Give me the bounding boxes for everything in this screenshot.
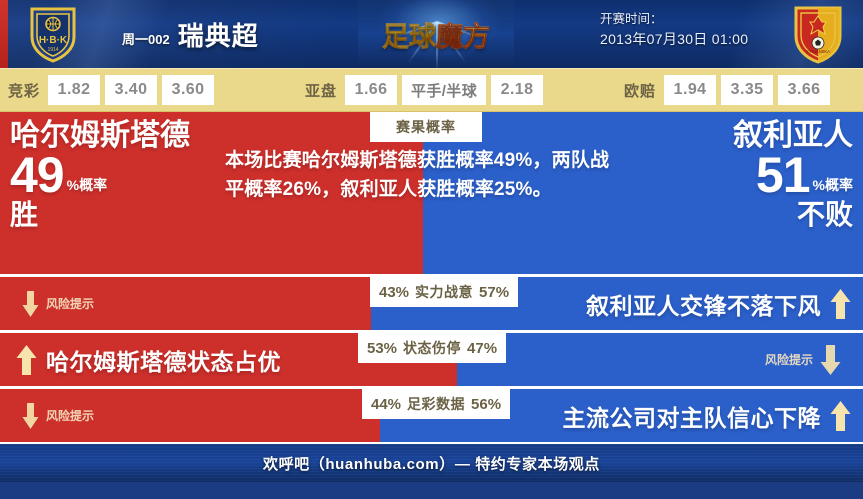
footer-text: 欢呼吧（huanhuba.com）— 特约专家本场观点 <box>263 453 600 474</box>
match-code: 周一002 <box>122 29 170 48</box>
odds-group-oupei: 欧赔 1.94 3.35 3.66 <box>616 68 835 112</box>
away-team-crest-icon: SYRIANSKA <box>787 3 849 65</box>
comparison-message: 哈尔姆斯塔德状态占优 <box>16 333 281 386</box>
brand-logo: 足球魔方 <box>358 0 514 68</box>
brand-text-part2: 魔方 <box>436 22 490 52</box>
odds-cell[interactable]: 3.60 <box>162 75 214 105</box>
odds-cell[interactable]: 3.66 <box>778 75 830 105</box>
risk-indicator: 风险提示 <box>22 277 94 330</box>
brand-text-part1: 足球 <box>382 22 436 52</box>
comparison-message: 叙利亚人交锋不落下风 <box>586 277 851 330</box>
away-probability-line: 51 %概率 <box>618 152 853 200</box>
away-team-name: 叙利亚人 <box>618 120 853 152</box>
comparison-message-text: 哈尔姆斯塔德状态占优 <box>46 343 281 377</box>
odds-cell[interactable]: 1.94 <box>664 75 716 105</box>
arrow-up-icon <box>830 399 851 433</box>
comparison-title: 状态伤停 <box>403 338 461 358</box>
svg-text:1914: 1914 <box>47 47 58 53</box>
league-info: 周一002 瑞典超 <box>122 0 259 68</box>
odds-group-label: 亚盘 <box>297 80 345 101</box>
comparison-tab: 44% 足彩数据 56% <box>362 389 510 419</box>
comparison-title: 实力战意 <box>415 282 473 302</box>
odds-bar: 竞彩 1.82 3.40 3.60 亚盘 1.66 平手/半球 2.18 欧赔 … <box>0 68 863 112</box>
result-probability-section: 赛果概率 哈尔姆斯塔德 49 %概率 胜 叙利亚人 51 %概率 不败 本场比赛… <box>0 112 863 274</box>
comparison-row: 53% 状态伤停 47% 哈尔姆斯塔德状态占优 风险提示 <box>0 330 863 386</box>
comparison-right-pct: 47% <box>467 340 497 357</box>
comparison-row: 44% 足彩数据 56% 风险提示 主流公司对主队信心下降 <box>0 386 863 442</box>
home-probability-suffix: %概率 <box>67 179 107 192</box>
comparison-right-pct: 57% <box>479 284 509 301</box>
odds-cell-handicap[interactable]: 平手/半球 <box>402 75 486 105</box>
odds-cell[interactable]: 1.66 <box>345 75 397 105</box>
home-team-crest-icon: H·B·K 1914 <box>22 3 84 65</box>
brand-wordmark: 足球魔方 <box>382 15 490 54</box>
odds-cell[interactable]: 3.35 <box>721 75 773 105</box>
arrow-down-icon <box>820 343 841 377</box>
comparison-message-text: 叙利亚人交锋不落下风 <box>586 287 821 321</box>
comparison-tab: 53% 状态伤停 47% <box>358 333 506 363</box>
risk-label: 风险提示 <box>765 351 813 368</box>
match-preview-graphic: H·B·K 1914 SYRIANSKA 周一002 瑞典超 足球魔方 开赛时间… <box>0 0 863 499</box>
risk-indicator: 风险提示 <box>22 389 94 442</box>
probability-description: 本场比赛哈尔姆斯塔德获胜概率49%，两队战平概率26%，叙利亚人获胜概率25%。 <box>225 146 625 205</box>
home-outcome-label: 胜 <box>10 200 225 229</box>
comparison-left-pct: 53% <box>367 340 397 357</box>
odds-group-jingcai: 竞彩 1.82 3.40 3.60 <box>0 68 219 112</box>
comparison-row: 43% 实力战意 57% 风险提示 叙利亚人交锋不落下风 <box>0 274 863 330</box>
footer-bar: 欢呼吧（huanhuba.com）— 特约专家本场观点 <box>0 442 863 482</box>
header-bar: H·B·K 1914 SYRIANSKA 周一002 瑞典超 足球魔方 开赛时间… <box>0 0 863 68</box>
comparison-right-pct: 56% <box>471 396 501 413</box>
odds-group-label: 欧赔 <box>616 80 664 101</box>
away-probability-suffix: %概率 <box>813 179 853 192</box>
arrow-up-icon <box>16 343 37 377</box>
kickoff-value: 2013年07月30日 01:00 <box>600 29 748 51</box>
probability-tab-label: 赛果概率 <box>370 112 482 142</box>
odds-group-yapan: 亚盘 1.66 平手/半球 2.18 <box>297 68 548 112</box>
arrow-up-icon <box>830 287 851 321</box>
home-team-block: 哈尔姆斯塔德 49 %概率 胜 <box>10 120 225 229</box>
arrow-down-icon <box>22 289 39 319</box>
away-probability-value: 51 <box>756 152 810 200</box>
odds-cell[interactable]: 3.40 <box>105 75 157 105</box>
kickoff-label: 开赛时间： <box>600 10 748 29</box>
kickoff-time-block: 开赛时间： 2013年07月30日 01:00 <box>600 10 748 51</box>
risk-indicator: 风险提示 <box>765 333 841 386</box>
odds-cell[interactable]: 2.18 <box>491 75 543 105</box>
home-probability-line: 49 %概率 <box>10 152 225 200</box>
comparison-left-pct: 44% <box>371 396 401 413</box>
away-outcome-label: 不败 <box>618 200 853 229</box>
away-team-block: 叙利亚人 51 %概率 不败 <box>618 120 853 229</box>
home-probability-value: 49 <box>10 152 64 200</box>
comparison-message-text: 主流公司对主队信心下降 <box>563 399 822 433</box>
arrow-down-icon <box>22 401 39 431</box>
comparison-title: 足彩数据 <box>407 394 465 414</box>
svg-text:H·B·K: H·B·K <box>39 35 68 46</box>
risk-label: 风险提示 <box>46 407 94 424</box>
comparison-message: 主流公司对主队信心下降 <box>563 389 852 442</box>
odds-cell[interactable]: 1.82 <box>48 75 100 105</box>
odds-group-label: 竞彩 <box>0 80 48 101</box>
comparison-left-pct: 43% <box>379 284 409 301</box>
risk-label: 风险提示 <box>46 295 94 312</box>
league-name: 瑞典超 <box>178 16 259 53</box>
comparison-tab: 43% 实力战意 57% <box>370 277 518 307</box>
svg-text:SYRIANSKA: SYRIANSKA <box>806 49 830 54</box>
